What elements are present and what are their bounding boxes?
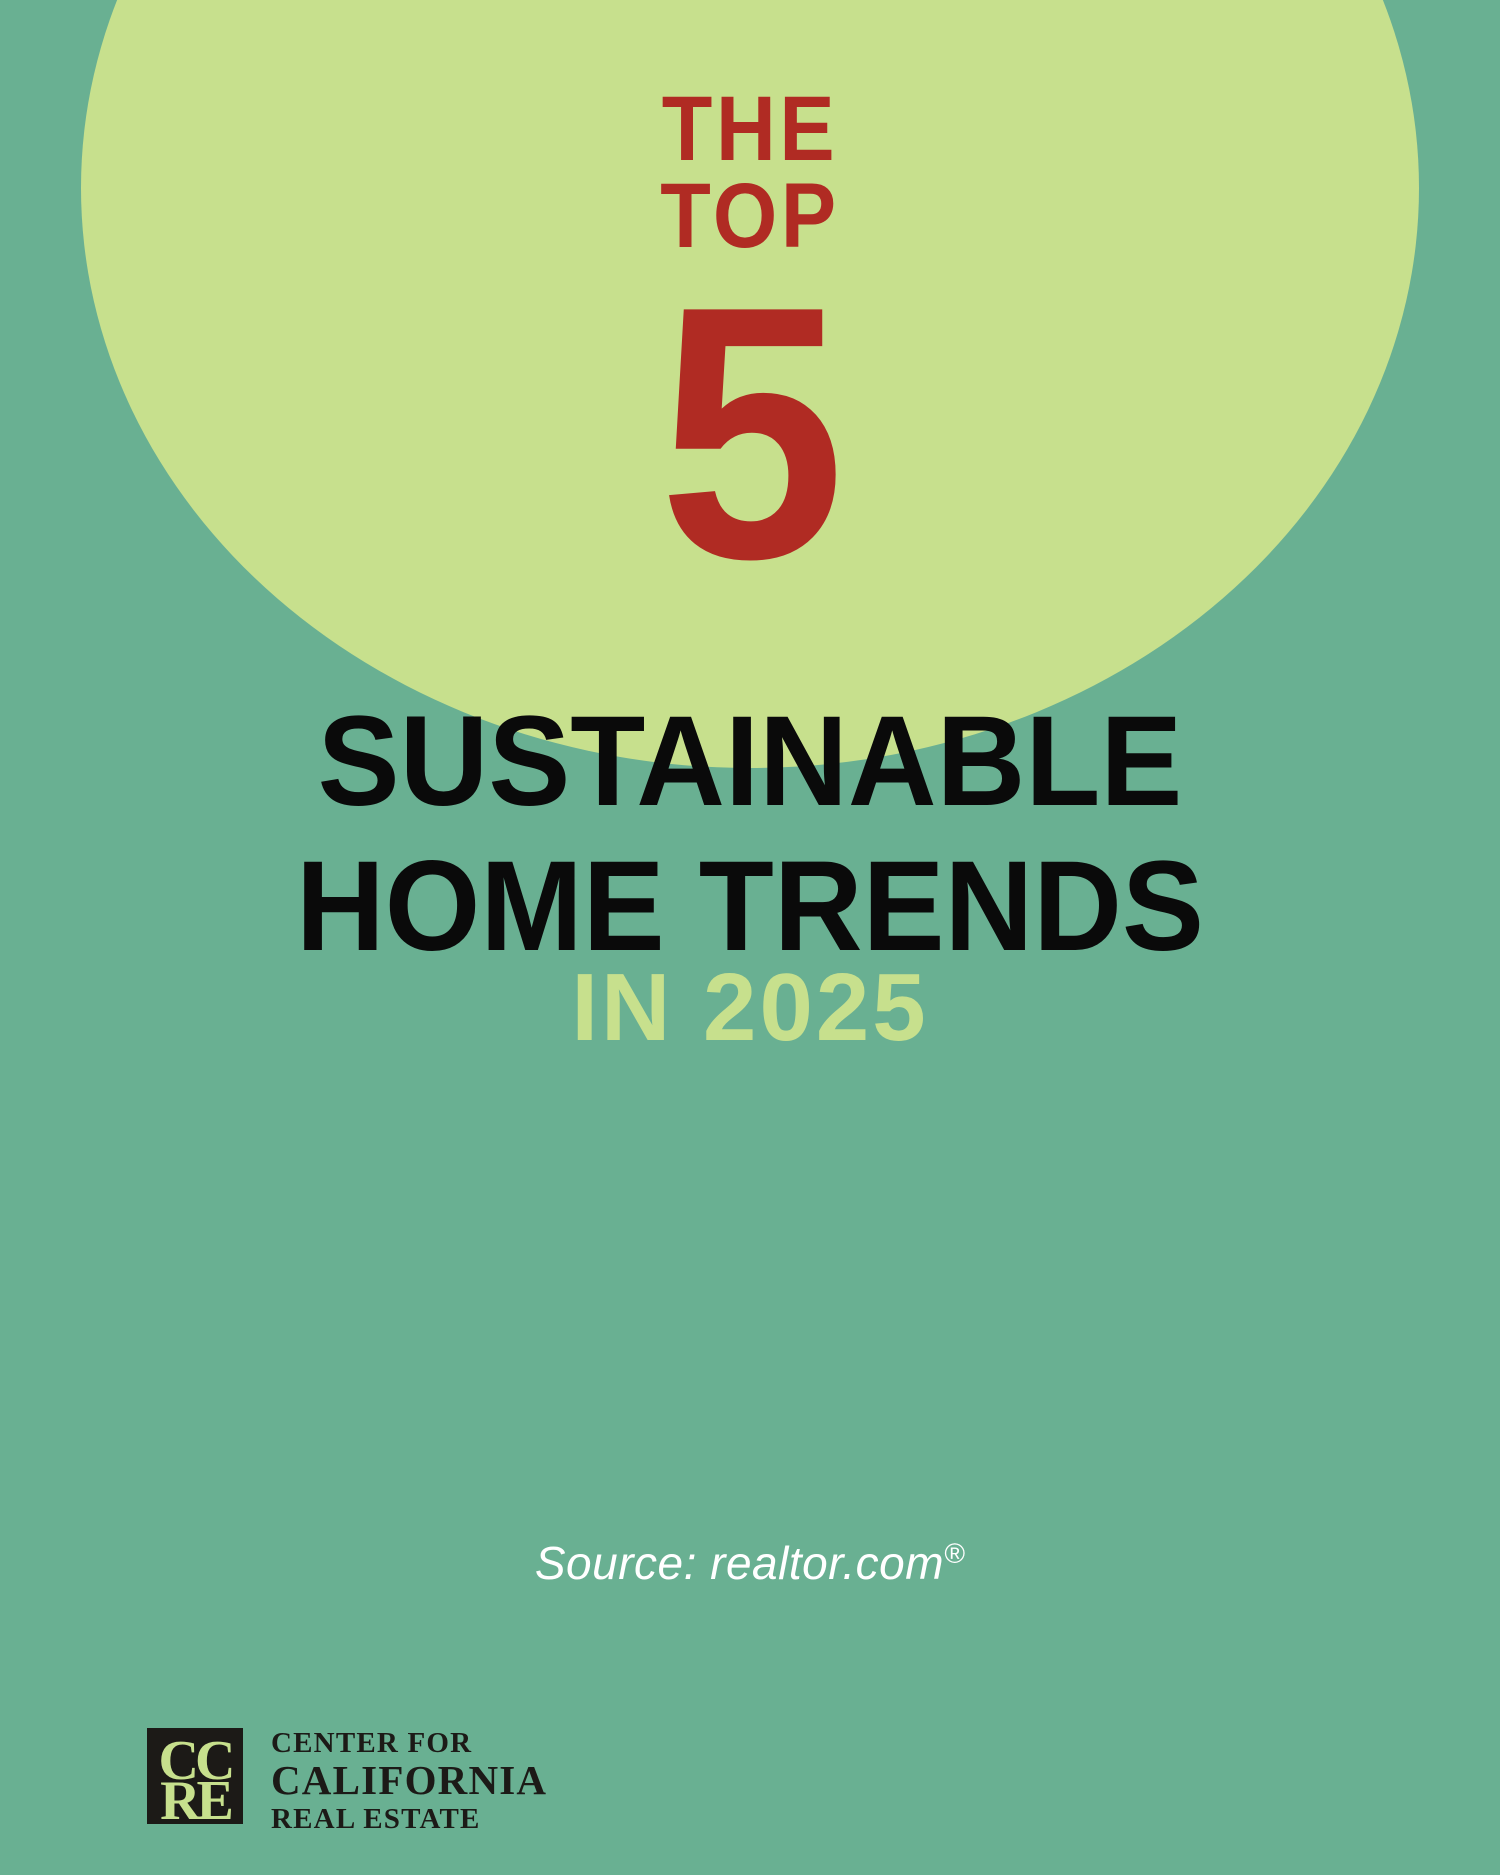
wordmark-line-center-for: CENTER FOR xyxy=(271,1728,547,1758)
eyebrow-line-the: THE xyxy=(75,86,1425,173)
hero-number: 5 xyxy=(53,253,1448,613)
headline-line-sustainable: SUSTAINABLE xyxy=(30,690,1470,835)
wordmark-line-real-estate: REAL ESTATE xyxy=(271,1804,547,1836)
registered-trademark-icon: ® xyxy=(944,1538,965,1569)
ccre-monogram-icon: CC RE xyxy=(147,1728,243,1824)
page-title: SUSTAINABLE HOME TRENDS xyxy=(0,690,1500,979)
ccre-logo: CC RE CENTER FOR CALIFORNIA REAL ESTATE xyxy=(147,1728,547,1835)
subheading-year: IN 2025 xyxy=(0,960,1500,1056)
ccre-wordmark: CENTER FOR CALIFORNIA REAL ESTATE xyxy=(271,1728,547,1835)
source-credit-text: Source: realtor.com xyxy=(535,1537,944,1589)
poster-canvas: THE TOP 5 SUSTAINABLE HOME TRENDS IN 202… xyxy=(0,0,1500,1875)
wordmark-line-california: CALIFORNIA xyxy=(271,1758,547,1803)
source-credit: Source: realtor.com® xyxy=(0,1540,1500,1586)
monogram-line-re: RE xyxy=(147,1773,243,1824)
